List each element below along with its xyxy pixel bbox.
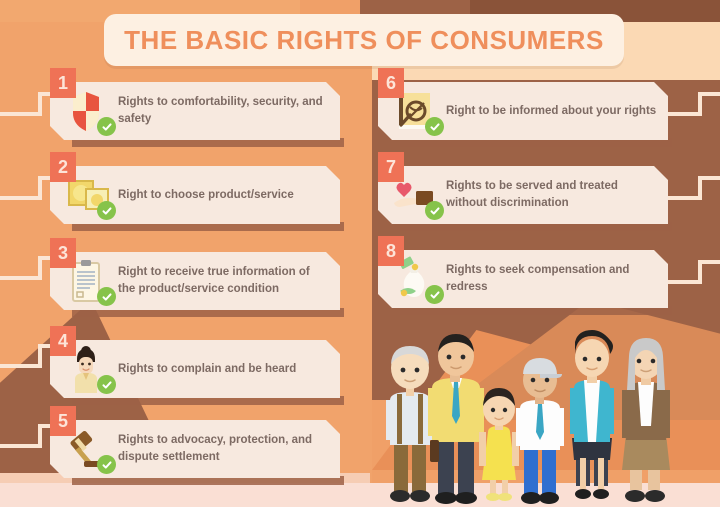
card-text-1: Rights to comfortability, security, and …: [114, 94, 340, 127]
card-text-7: Rights to be served and treated without …: [442, 178, 668, 211]
badge-number: 2: [58, 157, 68, 178]
title-banner: THE BASIC RIGHTS OF CONSUMERS: [104, 14, 624, 66]
page-title: THE BASIC RIGHTS OF CONSUMERS: [124, 25, 604, 56]
right-card-3[interactable]: Right to receive true information of the…: [50, 252, 340, 310]
right-card-4[interactable]: Rights to complain and be heard: [50, 340, 340, 398]
check-badge-icon: [97, 455, 116, 474]
right-card-1[interactable]: Rights to comfortability, security, and …: [50, 82, 340, 140]
right-card-7[interactable]: Rights to be served and treated without …: [378, 166, 668, 224]
right-card-5[interactable]: Rights to advocacy, protection, and disp…: [50, 420, 340, 478]
card-text-5: Rights to advocacy, protection, and disp…: [114, 432, 340, 465]
card-text-6: Right to be informed about your rights: [442, 103, 666, 120]
young-boy: [516, 358, 564, 504]
young-girl: [479, 388, 519, 501]
badge-number: 1: [58, 73, 68, 94]
card-text-8: Rights to seek compensation and redress: [442, 262, 668, 295]
infographic-canvas: THE BASIC RIGHTS OF CONSUMERS: [0, 0, 720, 507]
check-badge-icon: [97, 375, 116, 394]
card-text-2: Right to choose product/service: [114, 187, 304, 204]
check-badge-icon: [425, 117, 444, 136]
right-card-6[interactable]: Right to be informed about your rights: [378, 82, 668, 140]
right-card-2[interactable]: Right to choose product/service: [50, 166, 340, 224]
card-text-3: Right to receive true information of the…: [114, 264, 340, 297]
badge-number: 6: [386, 73, 396, 94]
check-badge-icon: [97, 201, 116, 220]
check-badge-icon: [425, 285, 444, 304]
badge-3: 3: [50, 238, 76, 268]
badge-number: 5: [58, 411, 68, 432]
elderly-woman: [622, 338, 670, 502]
check-badge-icon: [425, 201, 444, 220]
card-text-4: Rights to complain and be heard: [114, 361, 306, 378]
adult-woman: [570, 330, 614, 499]
badge-number: 8: [386, 241, 396, 262]
badge-number: 4: [58, 331, 68, 352]
check-badge-icon: [97, 287, 116, 306]
badge-1: 1: [50, 68, 76, 98]
elderly-man: [386, 346, 434, 502]
badge-4: 4: [50, 326, 76, 356]
badge-5: 5: [50, 406, 76, 436]
badge-7: 7: [378, 152, 404, 182]
connector-7: [660, 172, 720, 200]
adult-man: [428, 334, 484, 504]
badge-2: 2: [50, 152, 76, 182]
right-card-8[interactable]: Rights to seek compensation and redress: [378, 250, 668, 308]
badge-6: 6: [378, 68, 404, 98]
badge-number: 3: [58, 243, 68, 264]
family-group-illustration: [372, 330, 720, 507]
connector-8: [660, 256, 720, 284]
check-badge-icon: [97, 117, 116, 136]
badge-8: 8: [378, 236, 404, 266]
connector-6: [660, 88, 720, 116]
badge-number: 7: [386, 157, 396, 178]
